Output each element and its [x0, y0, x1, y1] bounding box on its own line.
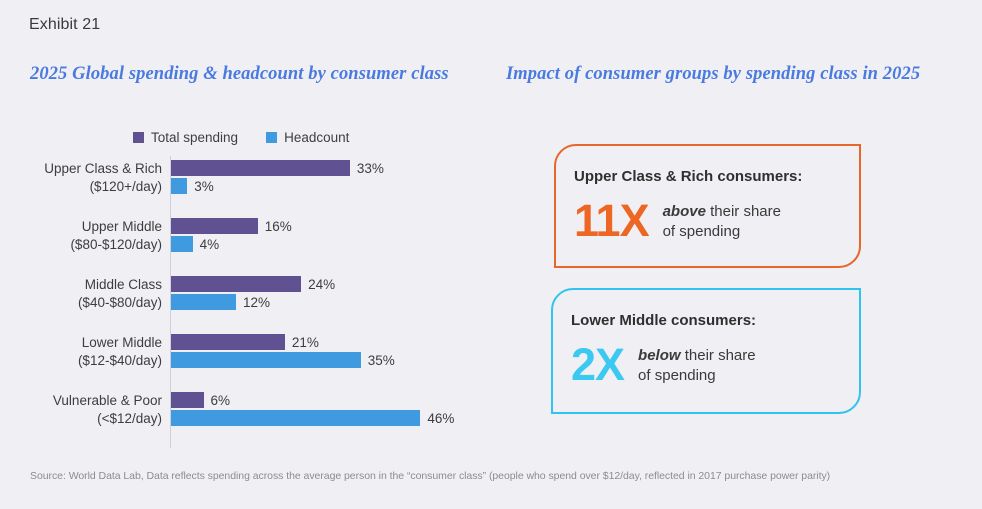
exhibit-label: Exhibit 21 [29, 16, 100, 34]
category-range: ($12-$40/day) [0, 352, 162, 370]
category-label: Lower Middle($12-$40/day) [0, 334, 162, 370]
right-panel-title: Impact of consumer groups by spending cl… [506, 64, 920, 85]
bar-line: 6% [171, 392, 501, 408]
bar-line: 35% [171, 352, 501, 368]
bar-line: 21% [171, 334, 501, 350]
callout-multiplier: 11X [574, 198, 649, 244]
callout-body: 2X below their share of spending [571, 342, 756, 388]
bar-group: 33%3% [171, 160, 501, 200]
chart-legend: Total spending Headcount [133, 130, 349, 145]
square-swatch-icon [133, 132, 144, 143]
category-name: Vulnerable & Poor [53, 393, 162, 408]
bar-headcount[interactable] [171, 236, 193, 252]
callout-desc-rest: their share [681, 347, 756, 364]
bar-group: 16%4% [171, 218, 501, 258]
callout-body: 11X above their share of spending [574, 198, 781, 244]
bar-value-label: 12% [243, 295, 270, 310]
legend-label: Headcount [284, 130, 349, 145]
category-range: ($40-$80/day) [0, 294, 162, 312]
bar-total-spending[interactable] [171, 334, 285, 350]
category-label: Upper Class & Rich($120+/day) [0, 160, 162, 196]
callout-desc-rest: their share [706, 203, 781, 220]
bar-line: 16% [171, 218, 501, 234]
bar-line: 12% [171, 294, 501, 310]
bar-headcount[interactable] [171, 294, 236, 310]
bar-line: 24% [171, 276, 501, 292]
bar-value-label: 16% [265, 219, 292, 234]
bar-group: 21%35% [171, 334, 501, 374]
bar-total-spending[interactable] [171, 218, 258, 234]
category-label: Vulnerable & Poor(<$12/day) [0, 392, 162, 428]
category-name: Middle Class [85, 277, 162, 292]
chart-row: Vulnerable & Poor(<$12/day)6%46% [0, 388, 500, 436]
source-footnote: Source: World Data Lab, Data reflects sp… [30, 470, 830, 482]
square-swatch-icon [266, 132, 277, 143]
left-panel-title: 2025 Global spending & headcount by cons… [30, 64, 449, 85]
category-name: Upper Class & Rich [44, 161, 162, 176]
legend-item-total-spending: Total spending [133, 130, 238, 145]
category-label: Middle Class($40-$80/day) [0, 276, 162, 312]
callout-multiplier: 2X [571, 342, 624, 388]
callout-emphasis: above [663, 203, 706, 220]
bar-group: 6%46% [171, 392, 501, 432]
bar-headcount[interactable] [171, 352, 361, 368]
bar-line: 46% [171, 410, 501, 426]
callout-description: below their share of spending [638, 342, 756, 386]
callout-heading: Upper Class & Rich consumers: [574, 168, 802, 185]
bar-group: 24%12% [171, 276, 501, 316]
callout-heading: Lower Middle consumers: [571, 312, 756, 329]
category-range: ($80-$120/day) [0, 236, 162, 254]
bar-value-label: 24% [308, 277, 335, 292]
bar-value-label: 33% [357, 161, 384, 176]
chart-row: Upper Class & Rich($120+/day)33%3% [0, 156, 500, 204]
category-range: ($120+/day) [0, 178, 162, 196]
callout-upper-class-rich: Upper Class & Rich consumers: 11X above … [554, 144, 861, 268]
chart-row: Middle Class($40-$80/day)24%12% [0, 272, 500, 320]
bar-value-label: 6% [211, 393, 231, 408]
chart-row: Lower Middle($12-$40/day)21%35% [0, 330, 500, 378]
bar-line: 33% [171, 160, 501, 176]
bar-value-label: 35% [368, 353, 395, 368]
category-name: Upper Middle [82, 219, 162, 234]
bar-headcount[interactable] [171, 178, 187, 194]
category-name: Lower Middle [82, 335, 162, 350]
category-range: (<$12/day) [0, 410, 162, 428]
callout-desc-line2: of spending [638, 367, 716, 384]
legend-label: Total spending [151, 130, 238, 145]
bar-line: 3% [171, 178, 501, 194]
callout-lower-middle: Lower Middle consumers: 2X below their s… [551, 288, 861, 414]
category-label: Upper Middle($80-$120/day) [0, 218, 162, 254]
legend-item-headcount: Headcount [266, 130, 349, 145]
bar-total-spending[interactable] [171, 276, 301, 292]
callout-desc-line2: of spending [663, 223, 741, 240]
bar-total-spending[interactable] [171, 160, 350, 176]
bar-value-label: 3% [194, 179, 214, 194]
callout-emphasis: below [638, 347, 681, 364]
bar-value-label: 4% [200, 237, 220, 252]
bar-value-label: 21% [292, 335, 319, 350]
bar-total-spending[interactable] [171, 392, 204, 408]
chart-rows: Upper Class & Rich($120+/day)33%3%Upper … [0, 156, 500, 436]
chart-row: Upper Middle($80-$120/day)16%4% [0, 214, 500, 262]
bar-headcount[interactable] [171, 410, 420, 426]
bar-line: 4% [171, 236, 501, 252]
callout-description: above their share of spending [663, 198, 781, 242]
bar-value-label: 46% [427, 411, 454, 426]
bar-chart: Upper Class & Rich($120+/day)33%3%Upper … [0, 156, 500, 448]
